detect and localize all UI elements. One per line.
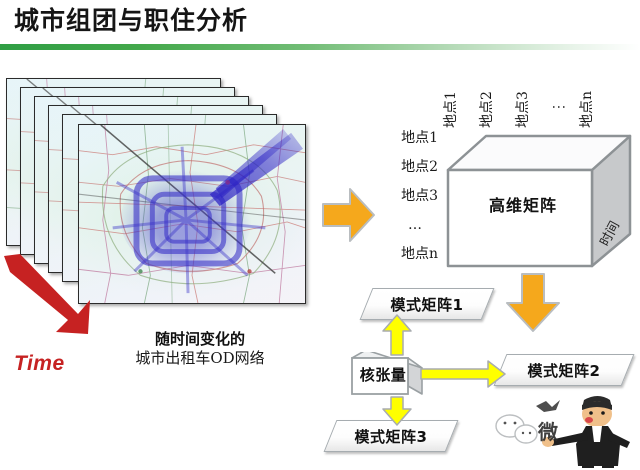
tensor-column-labels: 地点1 地点2 地点3 ⋮ 地点n: [444, 66, 640, 128]
core-tensor-label: 核张量: [352, 364, 414, 385]
orange-down-arrow-icon: [504, 273, 562, 335]
map-caption: 随时间变化的 城市出租车OD网络: [95, 330, 305, 368]
cube-label: 高维矩阵: [448, 192, 598, 216]
pattern-matrix-2-label: 模式矩阵2: [500, 354, 628, 386]
row-label: 地点1: [372, 124, 438, 153]
yellow-right-arrow-icon: [420, 360, 506, 388]
column-label: 地点3: [516, 91, 530, 128]
pattern-matrix-1-label: 模式矩阵1: [366, 288, 488, 320]
column-label: 地点2: [480, 91, 494, 128]
tensor-row-labels: 地点1 地点2 地点3 … 地点n: [372, 124, 438, 269]
column-label-ellipsis: ⋮: [552, 98, 566, 114]
time-axis-label: Time: [14, 352, 65, 376]
map-caption-line1: 随时间变化的: [95, 330, 305, 349]
map-caption-line2: 城市出租车OD网络: [95, 349, 305, 368]
red-diagonal-arrow-icon: [2, 252, 98, 338]
row-label-ellipsis: …: [372, 211, 438, 240]
pattern-matrix-3-label: 模式矩阵3: [330, 420, 452, 452]
map-layer-front: [78, 124, 306, 304]
row-label: 地点2: [372, 153, 438, 182]
row-label: 地点3: [372, 182, 438, 211]
pattern-matrix-1[interactable]: 模式矩阵1: [366, 288, 488, 320]
yellow-up-arrow-icon: [382, 314, 412, 356]
pattern-matrix-2[interactable]: 模式矩阵2: [500, 354, 628, 386]
pattern-matrix-3[interactable]: 模式矩阵3: [330, 420, 452, 452]
watermark-text: 微: [538, 416, 558, 445]
orange-right-arrow-icon: [322, 186, 376, 244]
column-label: 地点1: [444, 91, 458, 128]
map-roads-detailed: [79, 125, 305, 303]
column-label: 地点n: [580, 91, 594, 128]
row-label: 地点n: [372, 240, 438, 269]
title-divider: [0, 44, 640, 50]
wechat-bubbles-icon: [496, 415, 537, 443]
cartoon-man-pointing-icon: [488, 392, 638, 468]
page-title: 城市组团与职住分析: [14, 4, 248, 38]
